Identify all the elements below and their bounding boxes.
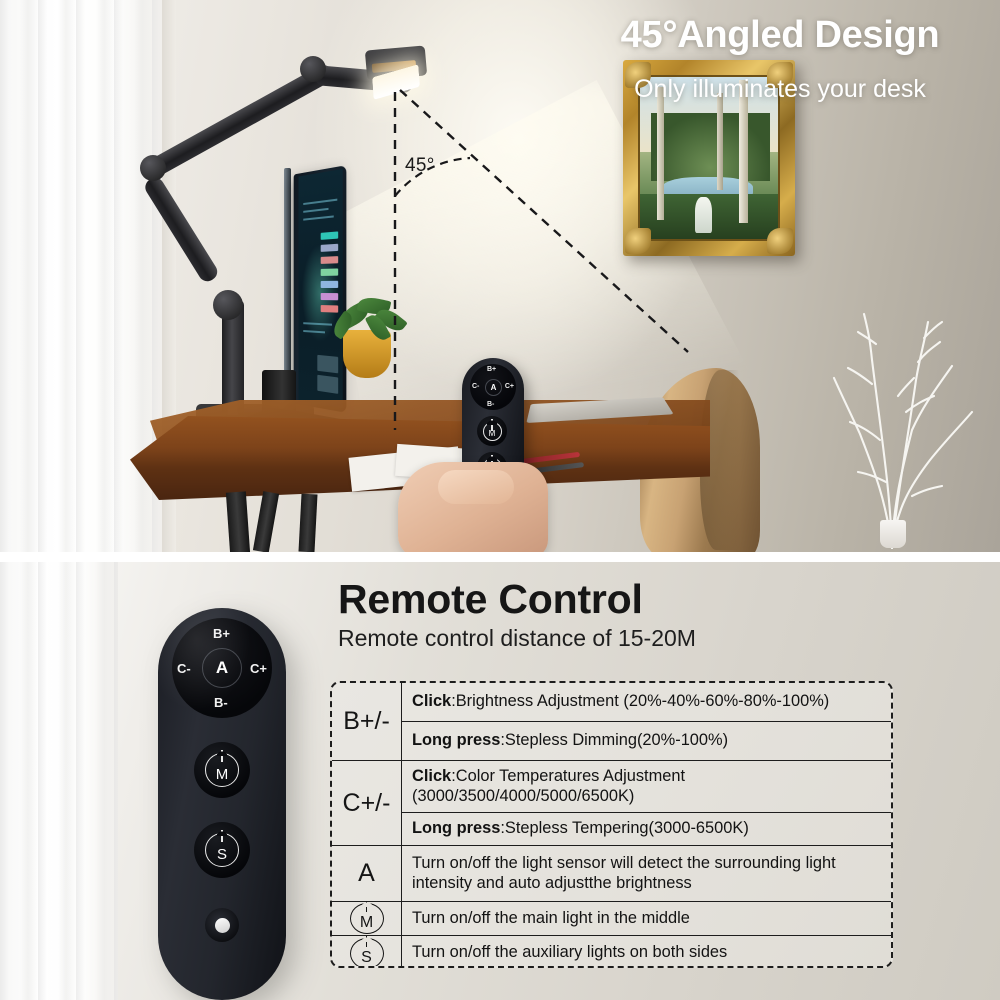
table-key-b: B+/-: [332, 683, 402, 760]
remote-function-table: B+/- Click:Brightness Adjustment (20%-40…: [330, 681, 893, 968]
table-row-main-light: M Turn on/off the main light in the midd…: [332, 902, 891, 936]
product-infographic: 45°Angled Design Only illuminates your d…: [0, 0, 1000, 1000]
vase: [880, 520, 906, 548]
desk-leg: [253, 491, 279, 552]
cell-text: Turn on/off the light sensor will detect…: [412, 854, 883, 893]
remote-control-large: A B+ C- C+ B- M S: [158, 608, 286, 1000]
remote-main-button-small[interactable]: M: [477, 416, 507, 446]
cell-bold: Long press: [412, 731, 500, 749]
top-scene-panel: 45°Angled Design Only illuminates your d…: [0, 0, 1000, 552]
window-curtain-bottom: [0, 562, 118, 1000]
cell-text: :Stepless Tempering(3000-6500K): [500, 819, 748, 837]
table-cell: Click:Color Temperatures Adjustment (300…: [402, 761, 891, 813]
table-key-c: C+/-: [332, 761, 402, 845]
bottom-subtitle: Remote control distance of 15-20M: [338, 625, 696, 652]
remote-dpad-small: A B+ C- C+ B-: [470, 364, 516, 410]
table-key-m: M: [332, 902, 402, 935]
cell-text: Turn on/off the main light in the middle: [412, 909, 690, 928]
cell-bold: Click: [412, 692, 451, 710]
table-row-color-temp: C+/- Click:Color Temperatures Adjustment…: [332, 761, 891, 846]
power-ring-icon: S: [350, 938, 384, 969]
painting-forest: [651, 113, 770, 181]
table-key-label-s: S: [361, 948, 372, 968]
remote-screw-hole: [205, 908, 239, 942]
dpad-down-label[interactable]: B-: [214, 695, 228, 710]
dpad-down-label[interactable]: B-: [487, 401, 494, 408]
painting-birch-mid: [717, 93, 723, 190]
frame-corner-br: [767, 228, 793, 254]
table-cell: Long press:Stepless Tempering(3000-6500K…: [402, 813, 891, 845]
table-cell: Turn on/off the main light in the middle: [402, 902, 891, 935]
table-cell: Long press:Stepless Dimming(20%-100%): [402, 722, 891, 760]
cell-text: :Stepless Dimming(20%-100%): [500, 731, 728, 749]
lamp-joint-elbow: [140, 155, 166, 181]
button-label-m: M: [489, 427, 496, 440]
remote-dpad[interactable]: A B+ C- C+ B-: [172, 618, 272, 718]
dpad-up-label[interactable]: B+: [213, 626, 230, 641]
table-row-auto-sensor: A Turn on/off the light sensor will dete…: [332, 846, 891, 902]
cell-text: :Brightness Adjustment (20%-40%-60%-80%-…: [451, 692, 829, 710]
cell-bold: Long press: [412, 819, 500, 837]
table-cell: Turn on/off the light sensor will detect…: [402, 846, 891, 901]
power-ring-icon: M: [205, 753, 239, 787]
power-ring-icon: M: [350, 903, 384, 934]
decorative-branches: [820, 300, 990, 550]
dpad-left-label[interactable]: C-: [177, 661, 191, 676]
dpad-left-label[interactable]: C-: [472, 383, 479, 390]
panel-divider: [0, 552, 1000, 562]
table-key-label-m: M: [360, 913, 373, 933]
dpad-up-label[interactable]: B+: [487, 366, 496, 373]
painting-birch-left: [657, 87, 664, 220]
headline: 45°Angled Design: [570, 14, 990, 57]
cell-text: :Color Temperatures Adjustment (3000/350…: [412, 767, 685, 804]
dpad-center-a[interactable]: A: [202, 648, 242, 688]
frame-corner-bl: [625, 228, 651, 254]
table-row-side-lights: S Turn on/off the auxiliary lights on bo…: [332, 936, 891, 968]
remote-main-light-button[interactable]: M: [194, 742, 250, 798]
lamp-joint-head: [300, 56, 326, 82]
table-key-a: A: [332, 846, 402, 901]
dpad-center-a[interactable]: A: [485, 379, 502, 396]
desk-leg: [226, 491, 250, 552]
monitor-screen: [298, 169, 342, 408]
cell-text: Turn on/off the auxiliary lights on both…: [412, 943, 727, 962]
table-cell: Turn on/off the auxiliary lights on both…: [402, 936, 891, 968]
button-label-s: S: [217, 844, 227, 866]
remote-side-light-button[interactable]: S: [194, 822, 250, 878]
painting-waterfall: [695, 197, 712, 233]
table-row-brightness: B+/- Click:Brightness Adjustment (20%-40…: [332, 683, 891, 761]
dpad-right-label[interactable]: C+: [505, 383, 514, 390]
bottom-title: Remote Control: [338, 576, 643, 623]
angle-label: 45°: [405, 155, 435, 177]
hand-finger: [438, 470, 514, 504]
dpad-right-label[interactable]: C+: [250, 661, 267, 676]
power-ring-icon: S: [205, 833, 239, 867]
power-ring-icon: M: [483, 422, 502, 441]
subheadline: Only illuminates your desk: [570, 75, 990, 104]
cell-bold: Click: [412, 767, 451, 785]
monitor: [294, 165, 347, 413]
lamp-joint-base: [213, 290, 243, 320]
button-label-m: M: [216, 764, 229, 786]
table-key-s: S: [332, 936, 402, 968]
table-cell: Click:Brightness Adjustment (20%-40%-60%…: [402, 683, 891, 722]
desk-leg: [298, 494, 317, 552]
